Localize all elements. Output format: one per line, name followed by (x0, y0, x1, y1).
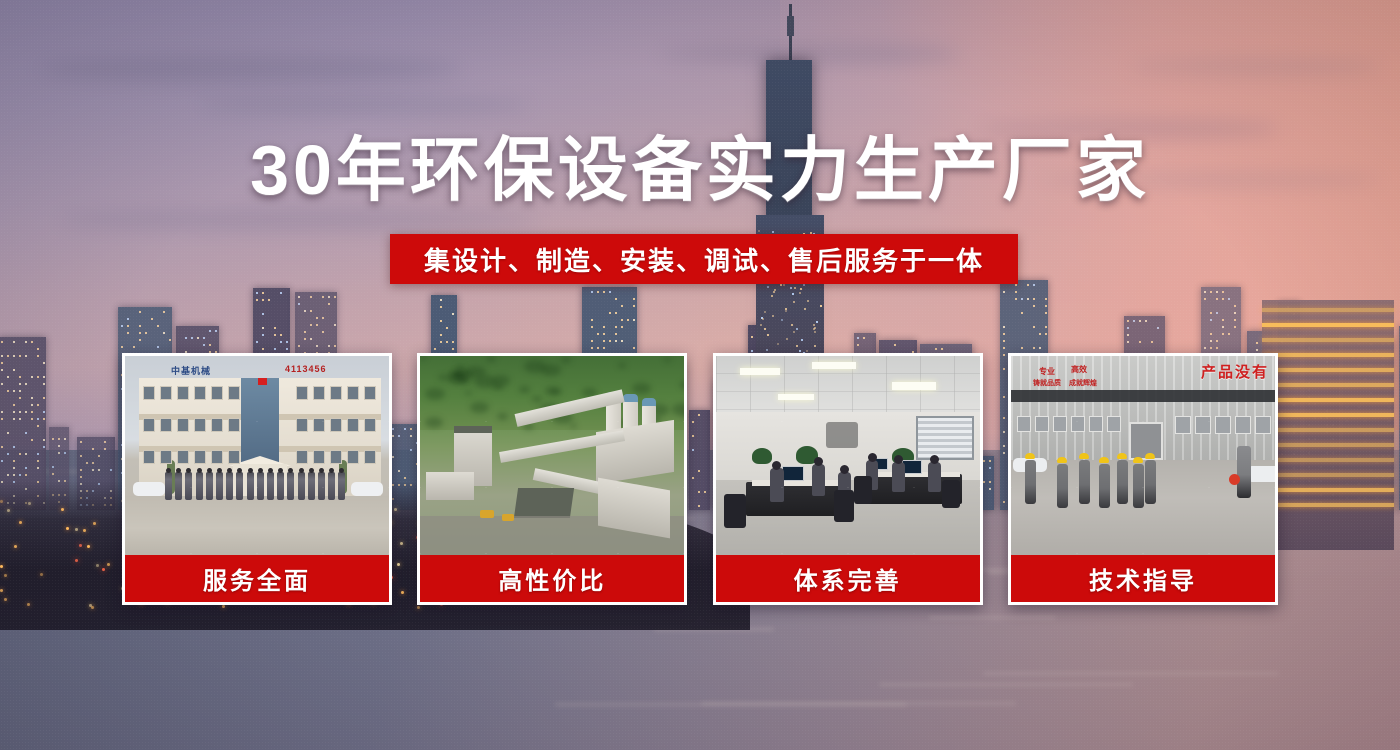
staff-figure (236, 472, 243, 500)
staff-figure (165, 472, 172, 500)
building-window (330, 450, 342, 464)
card-caption: 服务全面 (125, 555, 389, 602)
building-light-row (1262, 368, 1394, 372)
shore-light (222, 605, 225, 608)
tower-window (772, 315, 774, 317)
building-window (228, 386, 240, 400)
office-worker (892, 462, 905, 492)
staff-figure (338, 472, 345, 500)
factory-window (1235, 416, 1251, 434)
factory-window (1053, 416, 1067, 432)
foliage (492, 375, 510, 386)
building-window (194, 386, 206, 400)
shore-light (40, 573, 43, 576)
shore-light (96, 564, 99, 567)
shore-light (28, 502, 31, 505)
tower-window (774, 289, 776, 291)
foliage (545, 387, 558, 395)
building-light-row (1262, 308, 1394, 312)
factory-window (1255, 416, 1271, 434)
tower-window (767, 334, 769, 336)
factory-window (1195, 416, 1211, 434)
staff-figure-head (299, 468, 304, 473)
staff-figure (308, 472, 315, 500)
staff-figure-head (258, 468, 263, 473)
shore-light (83, 529, 86, 532)
worker-figure (1117, 460, 1128, 504)
building-light-row (1262, 503, 1394, 507)
building-light-row (1262, 443, 1394, 447)
office-worker-head (894, 455, 903, 464)
factory-slogan-sub-2: 成就辉煌 (1069, 378, 1097, 388)
tower-window (813, 324, 815, 326)
card-photo-worker-training: 产品没有 专业 高效 铸就品质 成就辉煌 (1011, 356, 1275, 555)
foliage (618, 363, 626, 368)
staff-figure-head (248, 468, 253, 473)
building-window (211, 386, 223, 400)
building-window (177, 418, 189, 432)
feature-card-row: 中基机械 4113456 服务全面 (122, 353, 1278, 605)
tower-window (773, 291, 775, 293)
staff-figure-head (319, 468, 324, 473)
office-worker (770, 468, 784, 502)
tower-window (814, 345, 816, 347)
hard-hat (1117, 453, 1127, 459)
feature-card[interactable]: 高性价比 (417, 353, 687, 605)
building-window (228, 418, 240, 432)
shore-light (102, 568, 105, 571)
building-window (364, 418, 376, 432)
hard-hat (1025, 453, 1035, 459)
staff-figure (226, 472, 233, 500)
worker-figure (1099, 464, 1110, 508)
card-photo-headquarters: 中基机械 4113456 (125, 356, 389, 555)
tower-window (820, 305, 822, 307)
shore-light (0, 589, 3, 592)
building-window (330, 418, 342, 432)
building-window (364, 450, 376, 464)
building-window (228, 450, 240, 464)
shore-light (75, 528, 78, 531)
building-window (313, 386, 325, 400)
staff-figure (196, 472, 203, 500)
staff-figure-head (268, 468, 273, 473)
staff-figure-head (207, 468, 212, 473)
subtitle-text: 集设计、制造、安装、调试、售后服务于一体 (424, 241, 984, 278)
building-window (330, 386, 342, 400)
factory-slogan-left-1: 专业 (1039, 366, 1055, 377)
feature-card[interactable]: 中基机械 4113456 服务全面 (122, 353, 392, 605)
card-caption: 技术指导 (1011, 555, 1275, 602)
tower-window (803, 284, 805, 286)
staff-figure (318, 472, 325, 500)
staff-figure-head (217, 468, 222, 473)
building-light-row (1262, 338, 1394, 342)
building-window (347, 450, 359, 464)
worker-figure (1145, 460, 1156, 504)
factory-wall-slogan: 产品没有 (1201, 361, 1269, 382)
tower-window (766, 349, 768, 351)
page-title: 30年环保设备实力生产厂家 (0, 131, 1400, 209)
shore-light (91, 606, 94, 609)
tower-window (786, 338, 788, 340)
worker-figure (1057, 464, 1068, 508)
tower-window (790, 287, 792, 289)
tower-window (767, 286, 769, 288)
staff-figure-head (309, 468, 314, 473)
staff-figure (328, 472, 335, 500)
shore-light (4, 598, 7, 601)
shore-light (0, 565, 3, 568)
building-light-row (1262, 473, 1394, 477)
shore-light (75, 559, 78, 562)
foliage (425, 417, 443, 428)
foliage (420, 356, 426, 360)
card-caption: 体系完善 (716, 555, 980, 602)
staff-figure-head (166, 468, 171, 473)
building-window (143, 418, 155, 432)
shore-light (107, 563, 110, 566)
tower-window (807, 300, 809, 302)
staff-figure-head (197, 468, 202, 473)
staff-figure (257, 472, 264, 500)
building-window (194, 450, 206, 464)
worker-figure (1079, 460, 1090, 504)
tower-window (793, 331, 795, 333)
building-light-row (1262, 428, 1394, 432)
tower-window (777, 343, 779, 345)
staff-figure (287, 472, 294, 500)
tower-window (772, 231, 774, 233)
staff-figure (216, 472, 223, 500)
building-light-row (1262, 398, 1394, 402)
factory-window (1089, 416, 1103, 432)
tower-window (793, 301, 795, 303)
tower-window (758, 230, 760, 232)
building-window (143, 450, 155, 464)
card-photo-office-interior (716, 356, 980, 555)
factory-window (1215, 416, 1231, 434)
card-caption: 高性价比 (420, 555, 684, 602)
card-photo-industrial-plant (420, 356, 684, 555)
staff-figure (298, 472, 305, 500)
shore-light (79, 544, 82, 547)
feature-card[interactable]: 产品没有 专业 高效 铸就品质 成就辉煌 技术指导 (1008, 353, 1278, 605)
hard-hat (1133, 457, 1143, 463)
tower-window (806, 350, 808, 352)
building-light-row (1262, 383, 1394, 387)
foliage (680, 381, 684, 389)
tower-window (783, 284, 785, 286)
building-window (160, 386, 172, 400)
worker-figure (1133, 464, 1144, 508)
building-window (296, 418, 308, 432)
tower-window (792, 293, 794, 295)
office-worker-head (772, 461, 781, 470)
hard-hat (1145, 453, 1155, 459)
office-worker-head (930, 455, 939, 464)
office-worker-head (814, 457, 823, 466)
foliage (672, 403, 684, 416)
office-worker (812, 464, 825, 496)
tower-window (804, 308, 806, 310)
tower-window (800, 288, 802, 290)
shore-light (66, 527, 69, 530)
photo-phone-number: 4113456 (285, 364, 327, 374)
building-light-row (1262, 353, 1394, 357)
shore-light (61, 508, 64, 511)
feature-card[interactable]: 体系完善 (713, 353, 983, 605)
tower-window (814, 331, 816, 333)
building-light-row (1262, 413, 1394, 417)
building-window (160, 418, 172, 432)
staff-figure (185, 472, 192, 500)
office-wall-logo (826, 422, 858, 448)
tower-window (760, 324, 762, 326)
building-window (347, 386, 359, 400)
shore-light (7, 509, 10, 512)
shore-light (0, 500, 3, 503)
staff-figure (277, 472, 284, 500)
building-window (177, 386, 189, 400)
tower-window (791, 324, 793, 326)
building-light-row (1262, 488, 1394, 492)
building-window (313, 450, 325, 464)
tower-window (764, 328, 766, 330)
factory-window (1017, 416, 1031, 432)
factory-window (1035, 416, 1049, 432)
shore-light (4, 574, 7, 577)
factory-window (1071, 416, 1085, 432)
shore-light (417, 606, 420, 609)
building-window (296, 386, 308, 400)
building-window (211, 450, 223, 464)
factory-slogan-left-2: 高效 (1071, 364, 1087, 375)
office-worker (928, 462, 941, 492)
tower-window (780, 284, 782, 286)
staff-figure (175, 472, 182, 500)
foliage (497, 413, 508, 420)
shore-light (14, 545, 17, 548)
staff-figure (247, 472, 254, 500)
tower-window (771, 295, 773, 297)
building-window (143, 386, 155, 400)
building-window (211, 418, 223, 432)
tower-window (796, 345, 798, 347)
building-light-row (1262, 323, 1394, 327)
tower-window (781, 319, 783, 321)
tower-window (799, 292, 801, 294)
office-worker-head (868, 453, 877, 462)
worker-figure (1025, 460, 1036, 504)
shore-light (27, 603, 30, 606)
staff-figure (206, 472, 213, 500)
building-light-row (1262, 458, 1394, 462)
tower-window (762, 318, 764, 320)
tower-window (764, 311, 766, 313)
building-window (296, 450, 308, 464)
tower-window (816, 321, 818, 323)
tower-window (801, 339, 803, 341)
promo-banner-stage: 30年环保设备实力生产厂家 集设计、制造、安装、调试、售后服务于一体 中基机械 … (0, 0, 1400, 750)
tower-window (794, 287, 796, 289)
office-worker-head (840, 465, 849, 474)
foliage (456, 365, 464, 370)
building-window (194, 418, 206, 432)
photo-company-sign: 中基机械 (171, 364, 211, 377)
hard-hat (1079, 453, 1089, 459)
tower-window (813, 328, 815, 330)
foliage (519, 386, 530, 393)
shore-light (93, 522, 96, 525)
tower-window (785, 310, 787, 312)
building-window (313, 418, 325, 432)
building-window (364, 386, 376, 400)
tower-window (796, 328, 798, 330)
subtitle-banner: 集设计、制造、安装、调试、售后服务于一体 (390, 234, 1018, 284)
factory-window (1107, 416, 1121, 432)
building-window (160, 450, 172, 464)
factory-window (1175, 416, 1191, 434)
shore-light (19, 521, 22, 524)
tower-window (799, 350, 801, 352)
factory-slogan-sub-1: 铸就品质 (1033, 378, 1061, 388)
staff-figure (267, 472, 274, 500)
building-window (177, 450, 189, 464)
hard-hat (1057, 457, 1067, 463)
shore-light (87, 545, 90, 548)
building-window (347, 418, 359, 432)
hard-hat (1099, 457, 1109, 463)
